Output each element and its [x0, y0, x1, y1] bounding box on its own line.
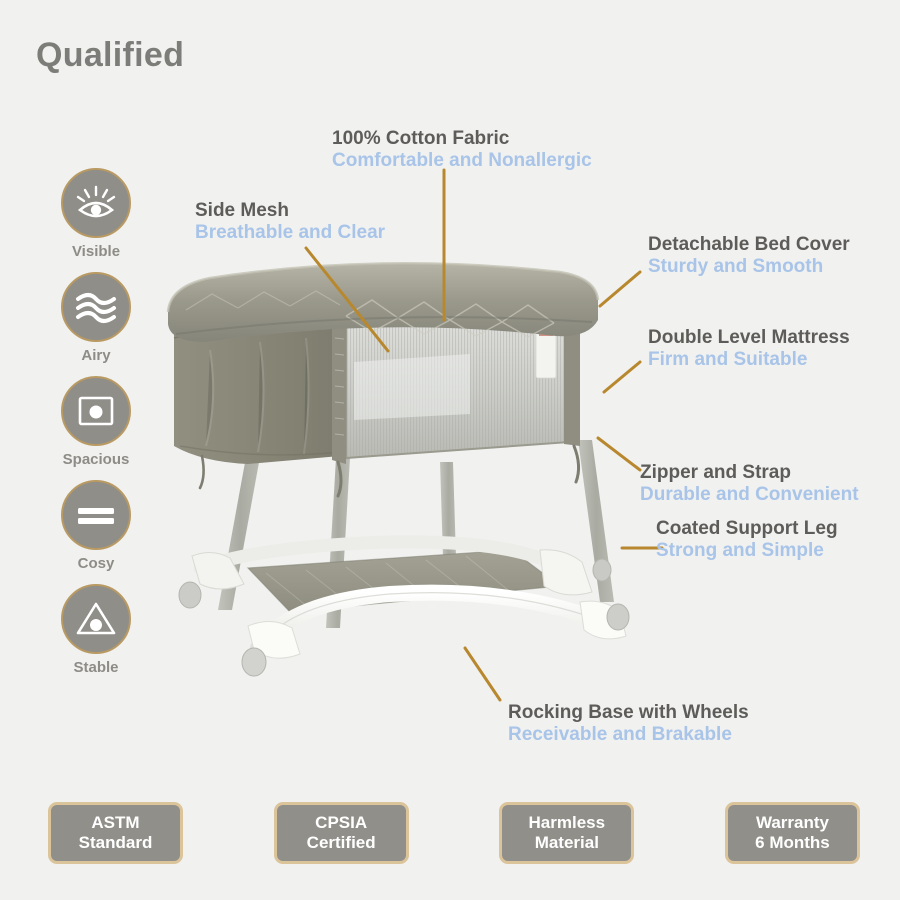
page-title: Qualified: [36, 36, 184, 75]
callout-rocking-base: Rocking Base with Wheels Receivable and …: [508, 702, 749, 747]
callout-sub-rocking-base: Receivable and Brakable: [508, 724, 749, 746]
callout-title-bed-cover: Detachable Bed Cover: [648, 234, 850, 256]
callout-sub-support-leg: Strong and Simple: [656, 540, 838, 562]
callout-title-rocking-base: Rocking Base with Wheels: [508, 702, 749, 724]
callout-title-support-leg: Coated Support Leg: [656, 518, 838, 540]
feature-label-spacious: Spacious: [48, 451, 144, 468]
product-infographic: Qualified: [0, 0, 900, 900]
callout-zipper-strap: Zipper and Strap Durable and Convenient: [640, 462, 859, 507]
cert-badge-warranty: Warranty 6 Months: [725, 802, 860, 864]
cert-astm-line1: ASTM: [91, 813, 139, 833]
feature-badge-cosy: [61, 480, 131, 550]
callout-title-zipper-strap: Zipper and Strap: [640, 462, 859, 484]
feature-icon-rail: Visible Airy Spacio: [48, 168, 144, 688]
feature-item-airy: Airy: [48, 272, 144, 364]
feature-badge-airy: [61, 272, 131, 342]
feature-label-stable: Stable: [48, 659, 144, 676]
triangle-dot-icon: [73, 598, 119, 640]
feature-label-cosy: Cosy: [48, 555, 144, 572]
bassinet-illustration: [140, 250, 660, 680]
feature-badge-stable: [61, 584, 131, 654]
feature-label-airy: Airy: [48, 347, 144, 364]
callout-bed-cover: Detachable Bed Cover Sturdy and Smooth: [648, 234, 850, 279]
feature-item-cosy: Cosy: [48, 480, 144, 572]
callout-sub-zipper-strap: Durable and Convenient: [640, 484, 859, 506]
bassinet-body: [168, 263, 598, 496]
product-image-bassinet: [140, 250, 660, 680]
feature-item-stable: Stable: [48, 584, 144, 676]
callout-cotton-fabric: 100% Cotton Fabric Comfortable and Nonal…: [332, 128, 592, 173]
cert-cpsia-line2: Certified: [307, 833, 376, 853]
feature-label-visible: Visible: [48, 243, 144, 260]
feature-badge-visible: [61, 168, 131, 238]
feature-item-spacious: Spacious: [48, 376, 144, 468]
rectangle-dot-icon: [74, 391, 118, 431]
cert-astm-line2: Standard: [79, 833, 153, 853]
feature-item-visible: Visible: [48, 168, 144, 260]
eye-icon: [74, 183, 118, 223]
callout-title-side-mesh: Side Mesh: [195, 200, 385, 222]
cert-warranty-line2: 6 Months: [755, 833, 830, 853]
two-bars-icon: [73, 495, 119, 535]
callout-sub-side-mesh: Breathable and Clear: [195, 222, 385, 244]
waves-icon: [73, 287, 119, 327]
callout-sub-mattress: Firm and Suitable: [648, 349, 850, 371]
callout-mattress: Double Level Mattress Firm and Suitable: [648, 327, 850, 372]
callout-side-mesh: Side Mesh Breathable and Clear: [195, 200, 385, 245]
callout-title-cotton-fabric: 100% Cotton Fabric: [332, 128, 592, 150]
feature-badge-spacious: [61, 376, 131, 446]
callout-sub-bed-cover: Sturdy and Smooth: [648, 256, 850, 278]
strap-right: [574, 446, 579, 482]
cert-badge-cpsia: CPSIA Certified: [274, 802, 409, 864]
certification-badges: ASTM Standard CPSIA Certified Harmless M…: [48, 802, 860, 864]
cert-badge-astm: ASTM Standard: [48, 802, 183, 864]
callout-sub-cotton-fabric: Comfortable and Nonallergic: [332, 150, 592, 172]
cert-cpsia-line1: CPSIA: [315, 813, 367, 833]
cert-warranty-line1: Warranty: [756, 813, 829, 833]
callout-support-leg: Coated Support Leg Strong and Simple: [656, 518, 838, 563]
cert-harmless-line2: Material: [535, 833, 599, 853]
cert-harmless-line1: Harmless: [529, 813, 606, 833]
callout-title-mattress: Double Level Mattress: [648, 327, 850, 349]
cert-badge-harmless-material: Harmless Material: [499, 802, 634, 864]
